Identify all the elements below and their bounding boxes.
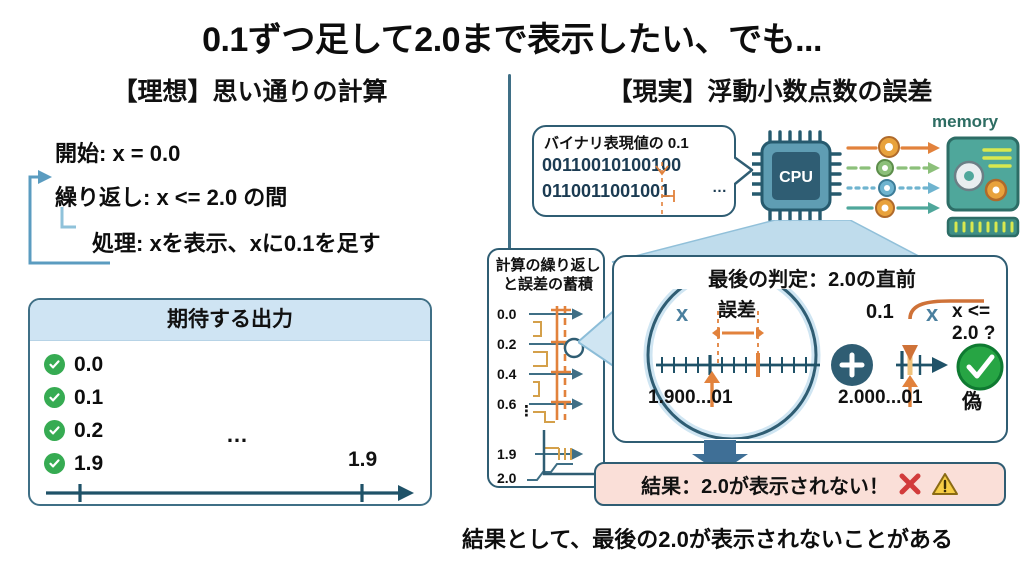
check-circle-icon — [44, 453, 65, 474]
accumulate-label-4: 1.9 — [497, 446, 516, 462]
bottom-caption: 結果として、最後の2.0が表示されないことがある — [462, 522, 953, 554]
final-judgement-card: 最後の判定：2.0の直前 — [612, 255, 1008, 443]
final-judgement-diagram — [614, 289, 1010, 439]
list-ellipsis: … — [226, 422, 250, 448]
list-item-value: 0.0 — [74, 353, 103, 377]
red-x-icon — [897, 471, 923, 497]
code-line-body: 処理: xを表示、xに0.1を足す — [92, 226, 381, 258]
accumulate-title-line1: 計算の繰り返し — [489, 256, 607, 275]
loop-flow-arrow-icon — [0, 165, 130, 275]
accumulate-label-5: 2.0 — [497, 470, 516, 486]
list-item: 0.0 — [44, 348, 103, 381]
accumulate-label-2: 0.4 — [497, 366, 516, 382]
warning-triangle-icon — [931, 471, 959, 497]
binary-truncation-marker-icon — [586, 145, 616, 203]
x-label-after: x — [926, 301, 938, 327]
result-banner-text: 結果：2.0が表示されない！ — [641, 470, 889, 499]
expected-output-list: 0.0 0.1 0.2 1.9 — [44, 348, 103, 480]
binary-cut-marker-icon — [650, 160, 690, 222]
accumulate-label-0: 0.0 — [497, 306, 516, 322]
accumulate-label-1: 0.2 — [497, 336, 516, 352]
list-item-value: 1.9 — [74, 452, 103, 476]
code-line-start: 開始: x = 0.0 — [55, 136, 180, 168]
binary-representation-bubble: バイナリ表現値の 0.1 00110010100100 011001100100… — [532, 125, 736, 217]
check-circle-icon — [44, 354, 65, 375]
gear-icon — [876, 137, 899, 217]
right-column-heading: 【現実】浮動小数点数の誤差 — [516, 72, 1024, 108]
column-divider — [508, 74, 511, 252]
condition-label: x <= 2.0 ? — [952, 301, 1006, 345]
verdict-label: 偽 — [962, 385, 982, 414]
list-item: 0.2 — [44, 414, 103, 447]
axis-low-label: 0.0 — [62, 502, 90, 506]
list-item: 1.9 — [44, 447, 103, 480]
list-item-value: 0.1 — [74, 386, 103, 410]
expected-output-header: 期待する出力 — [30, 300, 430, 341]
left-column-heading: 【理想】思い通りの計算 — [0, 72, 500, 108]
increment-label: 0.1 — [866, 301, 894, 324]
error-label: 誤差 — [718, 295, 756, 322]
accumulate-dots: ⋮ — [519, 402, 534, 420]
final-judgement-title: 最後の判定：2.0の直前 — [614, 263, 1010, 292]
axis-high-label: 2.0 — [345, 502, 373, 506]
value-before-label: 1.900...01 — [648, 387, 733, 409]
value-after-label: 2.000...01 — [838, 387, 923, 409]
infographic-canvas: 0.1ずつ足して2.0まで表示したい、でも... 【理想】思い通りの計算 【現実… — [0, 0, 1024, 572]
accumulate-label-3: 0.6 — [497, 396, 516, 412]
axis-value-label: 1.9 — [348, 448, 377, 472]
check-circle-icon — [44, 420, 65, 441]
result-banner: 結果：2.0が表示されない！ — [594, 462, 1006, 506]
list-item: 0.1 — [44, 381, 103, 414]
x-label-before: x — [676, 301, 688, 327]
binary-dots: … — [712, 179, 727, 196]
list-item-value: 0.2 — [74, 419, 103, 443]
cpu-label: CPU — [779, 169, 813, 186]
binary-bubble-title: バイナリ表現値の 0.1 — [544, 132, 689, 153]
expected-output-card: 期待する出力 0.0 0.1 0.2 — [28, 298, 432, 506]
page-title: 0.1ずつ足して2.0まで表示したい、でも... — [0, 12, 1024, 61]
check-circle-icon — [44, 387, 65, 408]
